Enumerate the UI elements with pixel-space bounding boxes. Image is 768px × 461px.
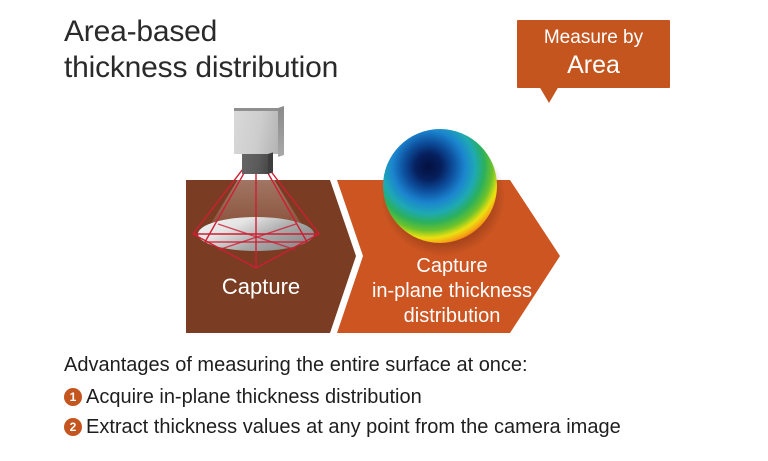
advantages-block: Advantages of measuring the entire surfa… <box>64 352 621 439</box>
measure-by-badge-pointer <box>539 86 559 103</box>
list-item: 1 Acquire in-plane thickness distributio… <box>64 385 621 409</box>
panel-left-shape <box>186 180 356 333</box>
heatmap-disc-shadow <box>381 136 505 256</box>
measure-by-badge-line1: Measure by <box>517 26 670 50</box>
bullet-number-2: 2 <box>64 418 82 436</box>
camera-lens <box>242 154 268 174</box>
wafer-sample <box>198 217 314 251</box>
measure-by-badge-line2: Area <box>517 50 670 80</box>
advantages-intro: Advantages of measuring the entire surfa… <box>64 352 621 379</box>
slide-canvas: Area-based thickness distribution Measur… <box>0 0 768 461</box>
page-title: Area-based thickness distribution <box>64 14 338 86</box>
measure-by-badge: Measure by Area <box>517 20 670 88</box>
panel-left-label: Capture <box>186 274 336 300</box>
bullet-number-1: 1 <box>64 388 82 406</box>
list-item: 2 Extract thickness values at any point … <box>64 415 621 439</box>
camera-icon <box>234 108 278 174</box>
measure-by-badge-body: Measure by Area <box>517 20 670 88</box>
panel-right-label: Capture in-plane thickness distribution <box>352 254 552 329</box>
advantage-text-2: Extract thickness values at any point fr… <box>86 415 621 439</box>
heatmap-disc <box>383 129 497 243</box>
advantage-text-1: Acquire in-plane thickness distribution <box>86 385 422 409</box>
camera-body <box>234 108 278 154</box>
